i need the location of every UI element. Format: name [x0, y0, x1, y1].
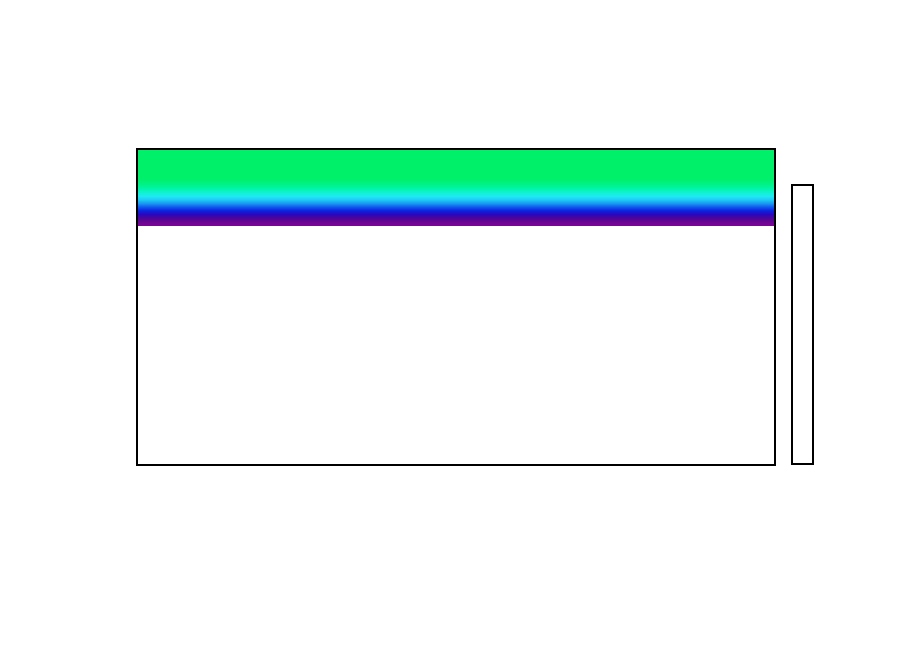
- plot-area: [136, 148, 776, 466]
- colorbar: [791, 184, 814, 465]
- contour-fill: [138, 150, 774, 226]
- chart-canvas: [0, 0, 904, 654]
